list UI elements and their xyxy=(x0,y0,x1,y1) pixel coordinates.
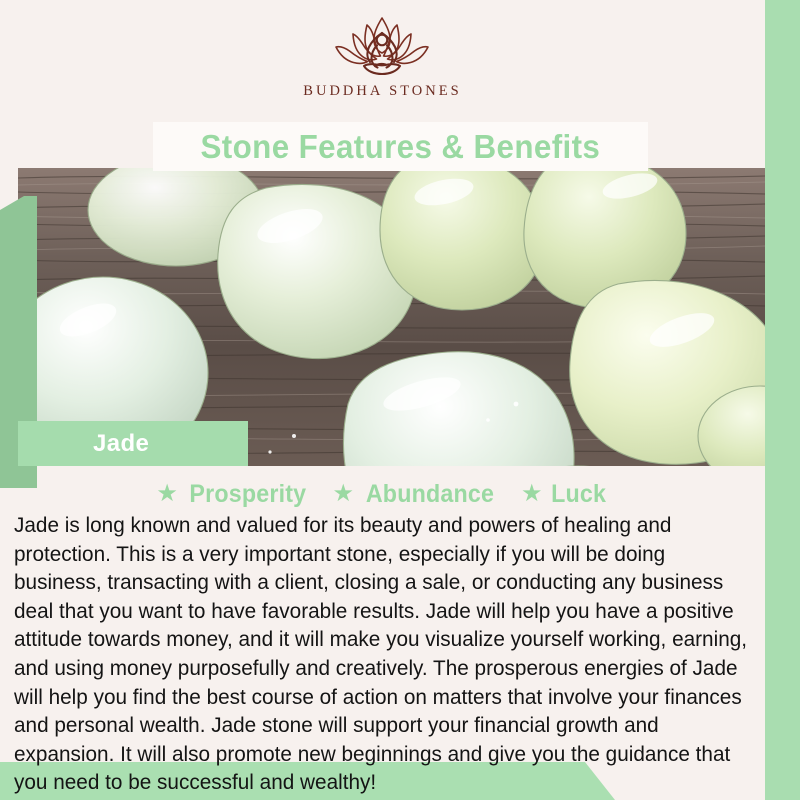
infographic-card: BUDDHA STONES xyxy=(0,0,800,800)
star-icon: ★ xyxy=(156,482,178,506)
benefit-item-luck: ★ Luck xyxy=(521,480,609,509)
stone-name-tag: Jade xyxy=(18,421,248,466)
brand-logo: BUDDHA STONES xyxy=(303,14,461,100)
lotus-meditation-icon xyxy=(307,14,457,76)
benefit-item-prosperity: ★ Prosperity xyxy=(156,480,310,509)
star-icon: ★ xyxy=(521,482,543,506)
brand-wordmark: BUDDHA STONES xyxy=(303,83,461,100)
benefit-item-abundance: ★ Abundance xyxy=(333,480,499,509)
benefit-label: Luck xyxy=(552,480,607,509)
benefits-row: ★ Prosperity ★ Abundance ★ Luck xyxy=(0,478,765,510)
benefit-label: Abundance xyxy=(366,480,494,509)
page-title: Stone Features & Benefits xyxy=(201,128,601,166)
benefit-label: Prosperity xyxy=(189,480,306,509)
stone-name-label: Jade xyxy=(93,430,149,458)
banner: Stone Features & Benefits xyxy=(153,122,648,171)
decor-right-strip xyxy=(765,0,800,800)
star-icon: ★ xyxy=(333,482,355,506)
description-text: Jade is long known and valued for its be… xyxy=(14,511,757,797)
brand-header: BUDDHA STONES xyxy=(0,0,765,120)
